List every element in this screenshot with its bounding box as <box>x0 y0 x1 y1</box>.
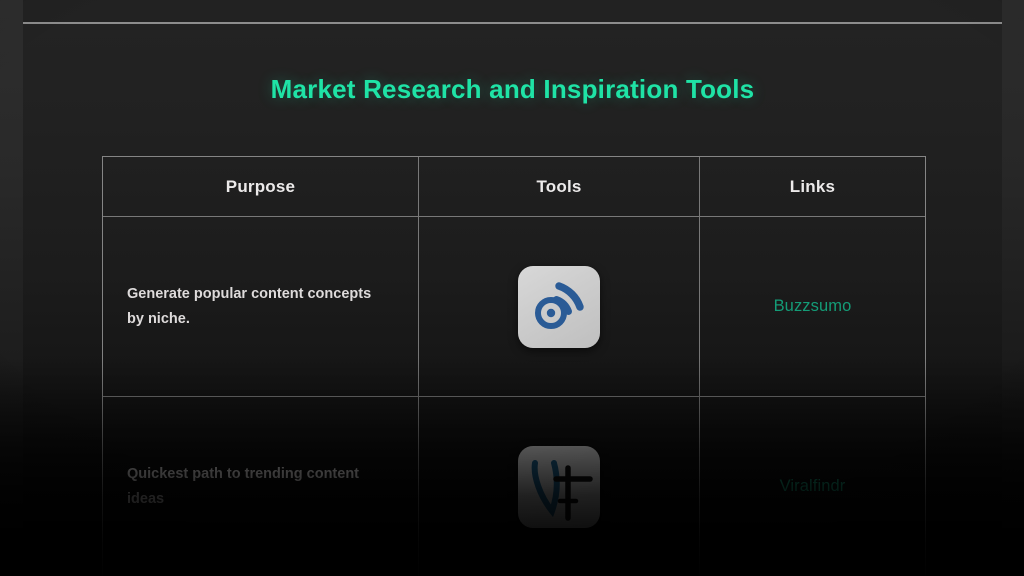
table-header-cell-tools: Tools <box>418 157 699 216</box>
column-header-label: Tools <box>536 177 581 197</box>
table-cell-tool <box>418 217 699 396</box>
table-header-cell-purpose: Purpose <box>103 157 418 216</box>
tool-link[interactable]: Buzzsumo <box>774 297 852 316</box>
buzzsumo-icon[interactable] <box>518 266 600 348</box>
purpose-description: Generate popular content concepts by nic… <box>103 282 378 332</box>
column-header-label: Links <box>790 177 835 197</box>
top-toolbar-strip <box>23 0 1002 22</box>
table-cell-purpose: Generate popular content concepts by nic… <box>103 217 418 396</box>
window-right-gutter <box>1002 0 1024 576</box>
table-cell-purpose: Quickest path to trending content ideas <box>103 397 418 576</box>
table-cell-link: Viralfindr <box>699 397 925 576</box>
table-cell-link: Buzzsumo <box>699 217 925 396</box>
purpose-description: Quickest path to trending content ideas <box>103 462 378 512</box>
column-header-label: Purpose <box>226 177 295 197</box>
table-row: Generate popular content concepts by nic… <box>103 216 925 396</box>
viralfindr-icon[interactable] <box>518 446 600 528</box>
page-title: Market Research and Inspiration Tools <box>23 74 1002 105</box>
tool-link[interactable]: Viralfindr <box>780 477 846 496</box>
window-left-gutter <box>0 0 23 576</box>
table-header-cell-links: Links <box>699 157 925 216</box>
table-header-row: Purpose Tools Links <box>103 157 925 216</box>
tools-table: Purpose Tools Links Generate popular con… <box>102 156 926 576</box>
table-row: Quickest path to trending content ideas <box>103 396 925 576</box>
slide-body: Market Research and Inspiration Tools Pu… <box>23 24 1002 576</box>
screenshot-root: Market Research and Inspiration Tools Pu… <box>0 0 1024 576</box>
table-cell-tool <box>418 397 699 576</box>
content-pane: Market Research and Inspiration Tools Pu… <box>23 0 1002 576</box>
